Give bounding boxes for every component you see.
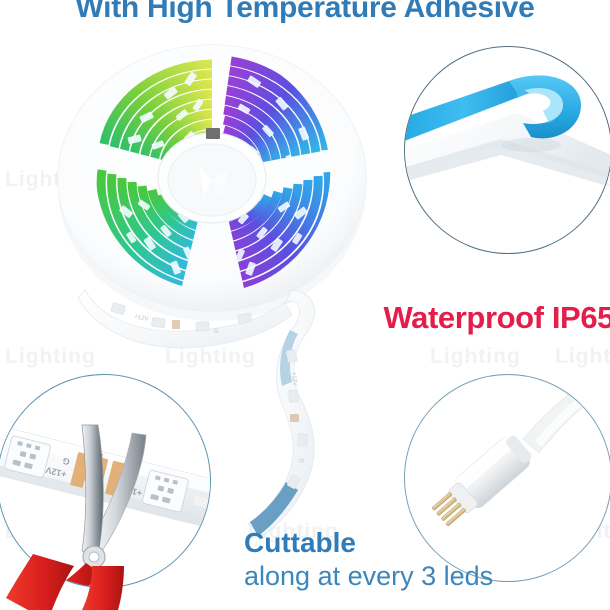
headline-waterproof: Waterproof IP65	[0, 300, 610, 336]
watermark-text: Lighting	[5, 345, 96, 369]
reel-hub-tab	[206, 128, 220, 139]
inset-adhesive-tape: Blue high viscosity double sided adhesiv…	[404, 46, 610, 254]
headline-adhesive: With High Temperature Adhesive	[0, 0, 610, 25]
svg-text:G: G	[297, 458, 304, 464]
led-strip-reel-image	[52, 38, 372, 328]
watermark-text: Lighting	[430, 345, 521, 369]
subtext-cuttable: along at every 3 leds	[244, 561, 493, 592]
product-infographic: LightingLightingLightingLightingLighting…	[0, 0, 610, 610]
inset-cuttable-scissors: +12V +12V G G	[0, 374, 211, 588]
watermark-text: Lighting	[165, 345, 256, 369]
headline-cuttable: Cuttable	[244, 527, 356, 559]
svg-text:+12V: +12V	[290, 372, 297, 387]
watermark-text: Lighting	[555, 345, 610, 369]
inset-white-connector: Integrated white connector	[404, 374, 610, 582]
